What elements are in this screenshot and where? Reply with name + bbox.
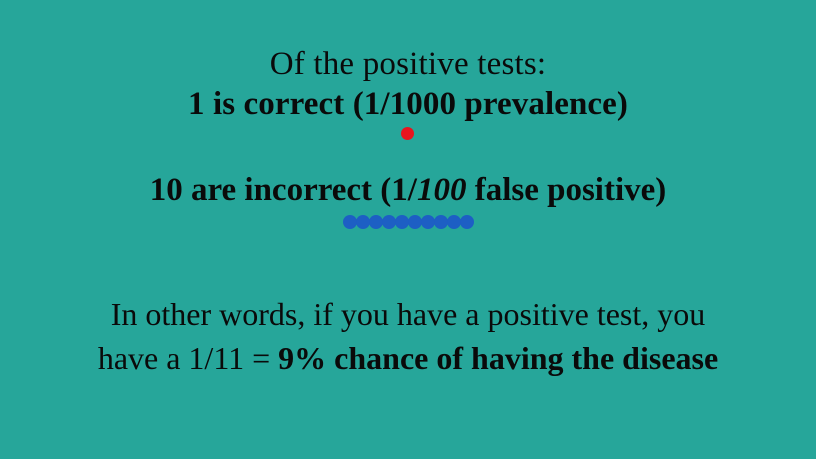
conclusion-line-2-strong: 9% chance of having the disease bbox=[278, 340, 718, 376]
false-positive-dot-row bbox=[0, 215, 816, 229]
false-positive-dot-icon bbox=[382, 215, 396, 229]
conclusion-line-2-regular: have a 1/11 = bbox=[98, 340, 278, 376]
false-positive-dot-icon bbox=[460, 215, 474, 229]
false-positive-dot-icon bbox=[343, 215, 357, 229]
false-positive-dot-icon bbox=[395, 215, 409, 229]
false-positive-dot-icon bbox=[447, 215, 461, 229]
positive-tests-lead-line: Of the positive tests: bbox=[0, 44, 816, 84]
false-positive-rate-emphasis: 100 bbox=[417, 172, 467, 208]
conclusion-line-2: have a 1/11 = 9% chance of having the di… bbox=[0, 336, 816, 380]
true-positive-statement: 1 is correct (1/1000 prevalence) bbox=[0, 84, 816, 124]
positive-tests-heading-block: Of the positive tests: 1 is correct (1/1… bbox=[0, 44, 816, 124]
false-positive-statement-prefix: 10 are incorrect (1/ bbox=[150, 172, 417, 208]
conclusion-line-1: In other words, if you have a positive t… bbox=[0, 292, 816, 336]
false-positive-statement-suffix: false positive) bbox=[466, 172, 666, 208]
false-positive-dot-icon bbox=[369, 215, 383, 229]
false-positive-dot-icon bbox=[356, 215, 370, 229]
false-positive-dot-icon bbox=[408, 215, 422, 229]
false-positive-heading-block: 10 are incorrect (1/100 false positive) bbox=[0, 170, 816, 210]
true-positive-dot-row bbox=[0, 127, 816, 140]
false-positive-dot-icon bbox=[421, 215, 435, 229]
false-positive-statement: 10 are incorrect (1/100 false positive) bbox=[0, 170, 816, 210]
false-positive-dot-icon bbox=[434, 215, 448, 229]
true-positive-dot-icon bbox=[401, 127, 414, 140]
slide-canvas: Of the positive tests: 1 is correct (1/1… bbox=[0, 0, 816, 459]
conclusion-block: In other words, if you have a positive t… bbox=[0, 292, 816, 380]
